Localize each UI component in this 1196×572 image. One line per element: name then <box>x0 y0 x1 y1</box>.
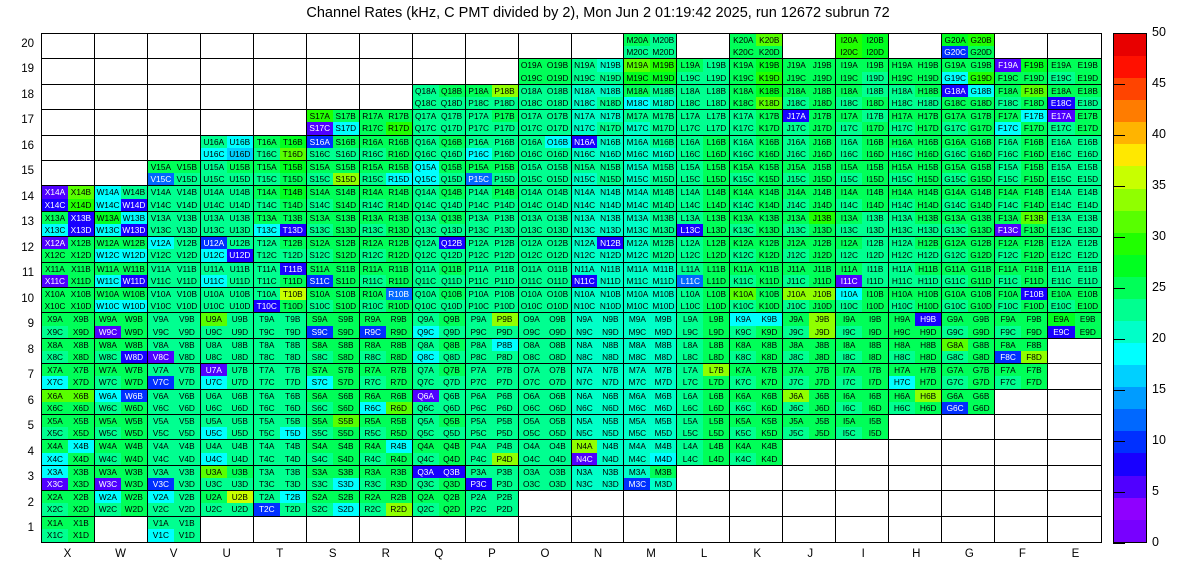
channel-j19b: J19B <box>809 59 835 71</box>
channel-cell-empty <box>889 517 942 542</box>
channel-l19c: L19C <box>677 72 703 84</box>
channel-s13c: S13C <box>307 224 333 236</box>
channel-u13d: U13D <box>227 224 253 236</box>
channel-m14a: M14A <box>624 186 650 198</box>
channel-cell-p17: P17AP17BP17CP17D <box>466 110 519 135</box>
channel-s6b: S6B <box>333 390 359 402</box>
channel-cell-r2: R2AR2BR2CR2D <box>360 491 413 516</box>
channel-w3d: W3D <box>121 478 147 490</box>
channel-cell-empty <box>836 517 889 542</box>
channel-w5c: W5C <box>95 427 121 439</box>
channel-cell-m7: M7AM7BM7CM7D <box>624 364 677 389</box>
channel-v10c: V10C <box>148 300 174 312</box>
channel-x1c: X1C <box>42 529 68 542</box>
channel-l6c: L6C <box>677 402 703 414</box>
channel-m14d: M14D <box>650 199 676 211</box>
channel-g8c: G8C <box>942 351 968 363</box>
channel-q14a: Q14A <box>413 186 439 198</box>
channel-cell-empty <box>413 59 466 84</box>
channel-s2c: S2C <box>307 503 333 515</box>
channel-x9b: X9B <box>68 313 94 325</box>
channel-k8c: K8C <box>730 351 756 363</box>
channel-cell-x6: X6AX6BX6CX6D <box>42 390 95 415</box>
channel-cell-empty <box>1048 466 1101 491</box>
channel-cell-empty <box>942 440 995 465</box>
channel-n5b: N5B <box>597 415 623 427</box>
channel-x4a: X4A <box>42 440 68 452</box>
channel-l9d: L9D <box>703 326 729 338</box>
channel-cell-x4: X4AX4BX4CX4D <box>42 440 95 465</box>
channel-p18d: P18D <box>492 97 518 109</box>
channel-r2d: R2D <box>386 503 412 515</box>
channel-k12d: K12D <box>756 249 782 261</box>
channel-n14a: N14A <box>572 186 598 198</box>
channel-j16c: J16C <box>783 148 809 160</box>
channel-p11c: P11C <box>466 275 492 287</box>
channel-l7a: L7A <box>677 364 703 376</box>
channel-cell-t6: T6AT6BT6CT6D <box>254 390 307 415</box>
channel-cell-empty <box>254 34 307 59</box>
colorbar-tick-label: 10 <box>1152 433 1166 447</box>
channel-q16c: Q16C <box>413 148 439 160</box>
channel-e9b: E9B <box>1075 313 1101 325</box>
channel-j6a: J6A <box>783 390 809 402</box>
channel-cell-empty <box>942 491 995 516</box>
channel-t6c: T6C <box>254 402 280 414</box>
channel-r17b: R17B <box>386 110 412 122</box>
channel-m20c: M20C <box>624 46 650 58</box>
channel-cell-q11: Q11AQ11BQ11CQ11D <box>413 263 466 288</box>
channel-n18d: N18D <box>597 97 623 109</box>
channel-v10a: V10A <box>148 288 174 300</box>
channel-cell-empty <box>995 415 1048 440</box>
channel-x10c: X10C <box>42 300 68 312</box>
channel-cell-i20: I20AI20BI20CI20D <box>836 34 889 59</box>
channel-cell-q9: Q9AQ9BQ9CQ9D <box>413 313 466 338</box>
channel-p13d: P13D <box>492 224 518 236</box>
channel-cell-j19: J19AJ19BJ19CJ19D <box>783 59 836 84</box>
channel-w4d: W4D <box>121 453 147 465</box>
channel-l11a: L11A <box>677 263 703 275</box>
channel-x13b: X13B <box>68 212 94 224</box>
y-tick-label: 20 <box>4 38 34 50</box>
y-tick-label: 6 <box>4 395 34 407</box>
channel-u10c: U10C <box>201 300 227 312</box>
channel-cell-s2: S2AS2BS2CS2D <box>307 491 360 516</box>
channel-s10b: S10B <box>333 288 359 300</box>
channel-o5b: O5B <box>545 415 571 427</box>
channel-cell-l19: L19AL19BL19CL19D <box>677 59 730 84</box>
channel-cell-o19: O19AO19BO19CO19D <box>519 59 572 84</box>
channel-cell-m15: M15AM15BM15CM15D <box>624 161 677 186</box>
channel-p16d: P16D <box>492 148 518 160</box>
channel-f16a: F16A <box>995 136 1021 148</box>
channel-v13c: V13C <box>148 224 174 236</box>
channel-r14b: R14B <box>386 186 412 198</box>
channel-w6d: W6D <box>121 402 147 414</box>
channel-l6d: L6D <box>703 402 729 414</box>
channel-t3a: T3A <box>254 466 280 478</box>
channel-v14c: V14C <box>148 199 174 211</box>
colorbar-tick-label: 30 <box>1152 229 1166 243</box>
channel-t8b: T8B <box>280 339 306 351</box>
channel-l14b: L14B <box>703 186 729 198</box>
channel-v1d: V1D <box>174 529 200 542</box>
channel-cell-e17: E17AE17BE17CE17D <box>1048 110 1101 135</box>
channel-cell-empty <box>42 110 95 135</box>
channel-s14c: S14C <box>307 199 333 211</box>
channel-q10b: Q10B <box>439 288 465 300</box>
channel-k16c: K16C <box>730 148 756 160</box>
colorbar-tick <box>1113 339 1125 340</box>
channel-cell-t12: T12AT12BT12CT12D <box>254 237 307 262</box>
channel-q16a: Q16A <box>413 136 439 148</box>
channel-q8a: Q8A <box>413 339 439 351</box>
channel-cell-n6: N6AN6BN6CN6D <box>572 390 625 415</box>
channel-i11a: I11A <box>836 263 862 275</box>
channel-f18a: F18A <box>995 85 1021 97</box>
channel-e10c: E10C <box>1048 300 1074 312</box>
channel-q8d: Q8D <box>439 351 465 363</box>
channel-w2d: W2D <box>121 503 147 515</box>
channel-cell-j13: J13AJ13BJ13CJ13D <box>783 212 836 237</box>
channel-h13a: H13A <box>889 212 915 224</box>
channel-p8b: P8B <box>492 339 518 351</box>
channel-f12a: F12A <box>995 237 1021 249</box>
channel-s8d: S8D <box>333 351 359 363</box>
channel-e18a: E18A <box>1048 85 1074 97</box>
channel-cell-empty <box>889 34 942 59</box>
channel-cell-g9: G9AG9BG9CG9D <box>942 313 995 338</box>
channel-m6c: M6C <box>624 402 650 414</box>
channel-cell-o15: O15AO15BO15CO15D <box>519 161 572 186</box>
channel-cell-empty <box>307 59 360 84</box>
channel-x14d: X14D <box>68 199 94 211</box>
channel-cell-f12: F12AF12BF12CF12D <box>995 237 1048 262</box>
channel-g16c: G16C <box>942 148 968 160</box>
channel-cell-l18: L18AL18BL18CL18D <box>677 85 730 110</box>
channel-o10a: O10A <box>519 288 545 300</box>
channel-cell-u8: U8AU8BU8CU8D <box>201 339 254 364</box>
channel-i8c: I8C <box>836 351 862 363</box>
channel-cell-f16: F16AF16BF16CF16D <box>995 136 1048 161</box>
channel-s8b: S8B <box>333 339 359 351</box>
channel-cell-t3: T3AT3BT3CT3D <box>254 466 307 491</box>
channel-p4c: P4C <box>466 453 492 465</box>
channel-p2b: P2B <box>492 491 518 503</box>
y-tick-label: 15 <box>4 165 34 177</box>
channel-t7c: T7C <box>254 376 280 388</box>
channel-l4d: L4D <box>703 453 729 465</box>
channel-cell-m12: M12AM12BM12CM12D <box>624 237 677 262</box>
channel-cell-u12: U12AU12BU12CU12D <box>201 237 254 262</box>
channel-e15a: E15A <box>1048 161 1074 173</box>
channel-j5a: J5A <box>783 415 809 427</box>
channel-h11d: H11D <box>915 275 941 287</box>
channel-x12c: X12C <box>42 249 68 261</box>
channel-m6a: M6A <box>624 390 650 402</box>
channel-x2d: X2D <box>68 503 94 515</box>
channel-m11a: M11A <box>624 263 650 275</box>
channel-cell-s14: S14AS14BS14CS14D <box>307 186 360 211</box>
channel-p12a: P12A <box>466 237 492 249</box>
channel-x4b: X4B <box>68 440 94 452</box>
channel-r16a: R16A <box>360 136 386 148</box>
channel-u5c: U5C <box>201 427 227 439</box>
channel-j18c: J18C <box>783 97 809 109</box>
channel-s15a: S15A <box>307 161 333 173</box>
channel-w14a: W14A <box>95 186 121 198</box>
channel-s5b: S5B <box>333 415 359 427</box>
channel-p3c: P3C <box>466 478 492 490</box>
channel-t8d: T8D <box>280 351 306 363</box>
channel-h11b: H11B <box>915 263 941 275</box>
channel-g16a: G16A <box>942 136 968 148</box>
channel-k15c: K15C <box>730 173 756 185</box>
colorbar-tick <box>1113 33 1125 34</box>
channel-s7c: S7C <box>307 376 333 388</box>
channel-e10b: E10B <box>1075 288 1101 300</box>
channel-p14d: P14D <box>492 199 518 211</box>
channel-r10a: R10A <box>360 288 386 300</box>
channel-h16b: H16B <box>915 136 941 148</box>
channel-i10b: I10B <box>862 288 888 300</box>
channel-cell-s5: S5AS5BS5CS5D <box>307 415 360 440</box>
channel-u12d: U12D <box>227 249 253 261</box>
channel-t10b: T10B <box>280 288 306 300</box>
channel-j13a: J13A <box>783 212 809 224</box>
channel-cell-j8: J8AJ8BJ8CJ8D <box>783 339 836 364</box>
channel-f14c: F14C <box>995 199 1021 211</box>
channel-t16b: T16B <box>280 136 306 148</box>
channel-cell-l15: L15AL15BL15CL15D <box>677 161 730 186</box>
channel-k18a: K18A <box>730 85 756 97</box>
channel-cell-q8: Q8AQ8BQ8CQ8D <box>413 339 466 364</box>
channel-cell-k8: K8AK8BK8CK8D <box>730 339 783 364</box>
channel-cell-i16: I16AI16BI16CI16D <box>836 136 889 161</box>
channel-s13a: S13A <box>307 212 333 224</box>
channel-cell-n18: N18AN18BN18CN18D <box>572 85 625 110</box>
channel-e14c: E14C <box>1048 199 1074 211</box>
y-tick-label: 1 <box>4 522 34 534</box>
channel-cell-empty <box>995 466 1048 491</box>
channel-o6d: O6D <box>545 402 571 414</box>
channel-j12c: J12C <box>783 249 809 261</box>
channel-m4b: M4B <box>650 440 676 452</box>
channel-j15a: J15A <box>783 161 809 173</box>
channel-x5c: X5C <box>42 427 68 439</box>
channel-m11b: M11B <box>650 263 676 275</box>
channel-o10d: O10D <box>545 300 571 312</box>
channel-v9c: V9C <box>148 326 174 338</box>
channel-i11d: I11D <box>862 275 888 287</box>
channel-k16a: K16A <box>730 136 756 148</box>
channel-o13d: O13D <box>545 224 571 236</box>
channel-cell-k4: K4AK4BK4CK4D <box>730 440 783 465</box>
channel-cell-n4: N4AN4BN4CN4D <box>572 440 625 465</box>
channel-cell-r7: R7AR7BR7CR7D <box>360 364 413 389</box>
channel-e16b: E16B <box>1075 136 1101 148</box>
channel-n3d: N3D <box>597 478 623 490</box>
channel-n10a: N10A <box>572 288 598 300</box>
channel-x1d: X1D <box>68 529 94 542</box>
channel-k20a: K20A <box>730 34 756 46</box>
channel-cell-t8: T8AT8BT8CT8D <box>254 339 307 364</box>
x-tick-label: N <box>578 548 618 560</box>
channel-s17b: S17B <box>333 110 359 122</box>
channel-x1b: X1B <box>68 517 94 530</box>
channel-cell-l9: L9AL9BL9CL9D <box>677 313 730 338</box>
channel-o15a: O15A <box>519 161 545 173</box>
channel-r12b: R12B <box>386 237 412 249</box>
channel-m20a: M20A <box>624 34 650 46</box>
channel-k4d: K4D <box>756 453 782 465</box>
y-tick-label: 18 <box>4 89 34 101</box>
channel-t13c: T13C <box>254 224 280 236</box>
channel-w3b: W3B <box>121 466 147 478</box>
channel-cell-n12: N12AN12BN12CN12D <box>572 237 625 262</box>
channel-h16a: H16A <box>889 136 915 148</box>
channel-e10d: E10D <box>1075 300 1101 312</box>
channel-n15d: N15D <box>597 173 623 185</box>
channel-j8c: J8C <box>783 351 809 363</box>
channel-f10d: F10D <box>1021 300 1047 312</box>
channel-o19a: O19A <box>519 59 545 71</box>
channel-m20b: M20B <box>650 34 676 46</box>
colorbar-tick-label: 20 <box>1152 331 1166 345</box>
channel-u16c: U16C <box>201 148 227 160</box>
channel-w8a: W8A <box>95 339 121 351</box>
channel-k19b: K19B <box>756 59 782 71</box>
channel-o4c: O4C <box>519 453 545 465</box>
channel-h18c: H18C <box>889 97 915 109</box>
channel-cell-empty <box>572 491 625 516</box>
channel-f9a: F9A <box>995 313 1021 325</box>
channel-f7b: F7B <box>1021 364 1047 376</box>
channel-s3d: S3D <box>333 478 359 490</box>
channel-j12a: J12A <box>783 237 809 249</box>
channel-r3a: R3A <box>360 466 386 478</box>
channel-h19c: H19C <box>889 72 915 84</box>
channel-t3c: T3C <box>254 478 280 490</box>
channel-r4a: R4A <box>360 440 386 452</box>
channel-f10b: F10B <box>1021 288 1047 300</box>
channel-n5d: N5D <box>597 427 623 439</box>
channel-l10c: L10C <box>677 300 703 312</box>
channel-o6a: O6A <box>519 390 545 402</box>
channel-i10a: I10A <box>836 288 862 300</box>
x-tick-label: E <box>1055 548 1095 560</box>
channel-g11d: G11D <box>968 275 994 287</box>
channel-cell-u3: U3AU3BU3CU3D <box>201 466 254 491</box>
channel-p5c: P5C <box>466 427 492 439</box>
channel-cell-o10: O10AO10BO10CO10D <box>519 288 572 313</box>
channel-x6d: X6D <box>68 402 94 414</box>
channel-cell-empty <box>942 517 995 542</box>
channel-cell-s17: S17AS17BS17CS17D <box>307 110 360 135</box>
channel-cell-o17: O17AO17BO17CO17D <box>519 110 572 135</box>
channel-n12a: N12A <box>572 237 598 249</box>
channel-f16c: F16C <box>995 148 1021 160</box>
channel-cell-o12: O12AO12BO12CO12D <box>519 237 572 262</box>
channel-h15c: H15C <box>889 173 915 185</box>
channel-cell-m6: M6AM6BM6CM6D <box>624 390 677 415</box>
channel-cell-v7: V7AV7BV7CV7D <box>148 364 201 389</box>
channel-s17a: S17A <box>307 110 333 122</box>
channel-cell-w7: W7AW7BW7CW7D <box>95 364 148 389</box>
channel-q10c: Q10C <box>413 300 439 312</box>
channel-o8b: O8B <box>545 339 571 351</box>
channel-cell-f11: F11AF11BF11CF11D <box>995 263 1048 288</box>
channel-j12b: J12B <box>809 237 835 249</box>
channel-v15a: V15A <box>148 161 174 173</box>
channel-r4c: R4C <box>360 453 386 465</box>
channel-w5a: W5A <box>95 415 121 427</box>
channel-l18b: L18B <box>703 85 729 97</box>
channel-h15b: H15B <box>915 161 941 173</box>
channel-p17a: P17A <box>466 110 492 122</box>
channel-k13a: K13A <box>730 212 756 224</box>
channel-n14b: N14B <box>597 186 623 198</box>
channel-t15a: T15A <box>254 161 280 173</box>
channel-w6b: W6B <box>121 390 147 402</box>
channel-m18b: M18B <box>650 85 676 97</box>
channel-r12c: R12C <box>360 249 386 261</box>
channel-h17d: H17D <box>915 122 941 134</box>
channel-s10c: S10C <box>307 300 333 312</box>
channel-cell-empty <box>783 34 836 59</box>
channel-cell-empty <box>677 491 730 516</box>
channel-cell-v10: V10AV10BV10CV10D <box>148 288 201 313</box>
channel-s4b: S4B <box>333 440 359 452</box>
channel-cell-l7: L7AL7BL7CL7D <box>677 364 730 389</box>
channel-t13d: T13D <box>280 224 306 236</box>
channel-cell-u9: U9AU9BU9CU9D <box>201 313 254 338</box>
channel-cell-empty <box>254 517 307 542</box>
channel-cell-g7: G7AG7BG7CG7D <box>942 364 995 389</box>
channel-o8d: O8D <box>545 351 571 363</box>
channel-p16c: P16C <box>466 148 492 160</box>
channel-cell-empty <box>995 440 1048 465</box>
channel-v2b: V2B <box>174 491 200 503</box>
channel-l17b: L17B <box>703 110 729 122</box>
channel-r4b: R4B <box>386 440 412 452</box>
channel-i8a: I8A <box>836 339 862 351</box>
channel-o13b: O13B <box>545 212 571 224</box>
channel-g20c: G20C <box>942 46 968 58</box>
channel-q6d: Q6D <box>439 402 465 414</box>
channel-g19d: G19D <box>968 72 994 84</box>
channel-k6b: K6B <box>756 390 782 402</box>
channel-s5c: S5C <box>307 427 333 439</box>
channel-e16a: E16A <box>1048 136 1074 148</box>
channel-v11d: V11D <box>174 275 200 287</box>
channel-n14d: N14D <box>597 199 623 211</box>
channel-t4b: T4B <box>280 440 306 452</box>
channel-o16d: O16D <box>545 148 571 160</box>
channel-n9d: N9D <box>597 326 623 338</box>
channel-t5b: T5B <box>280 415 306 427</box>
channel-k20c: K20C <box>730 46 756 58</box>
channel-l13a: L13A <box>677 212 703 224</box>
colorbar-tick <box>1113 441 1125 442</box>
channel-t14b: T14B <box>280 186 306 198</box>
channel-s7b: S7B <box>333 364 359 376</box>
channel-cell-g12: G12AG12BG12CG12D <box>942 237 995 262</box>
channel-h7b: H7B <box>915 364 941 376</box>
channel-i17b: I17B <box>862 110 888 122</box>
channel-k8d: K8D <box>756 351 782 363</box>
